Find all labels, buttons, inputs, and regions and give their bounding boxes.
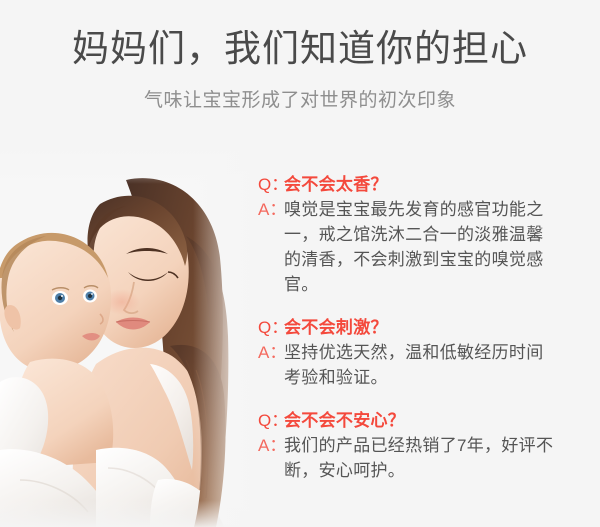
- question-text: 会不会太香？: [284, 172, 594, 197]
- answer-line: 坚持优选天然，温和低敏经历时间: [284, 340, 594, 365]
- qa-item: Q： 会不会太香？ A： 嗅觉是宝宝最先发育的感官功能之 一，戒之馆洗沐二合一的…: [258, 172, 594, 297]
- question-text: 会不会刺激？: [284, 315, 594, 340]
- header: 妈妈们，我们知道你的担心 气味让宝宝形成了对世界的初次印象: [0, 0, 600, 116]
- answer-line: 断，安心呵护。: [284, 458, 594, 483]
- qa-answer-row: A： 坚持优选天然，温和低敏经历时间 考验和验证。: [258, 340, 594, 390]
- page-title: 妈妈们，我们知道你的担心: [0, 26, 600, 72]
- qa-question-row: Q： 会不会不安心？: [258, 408, 594, 433]
- answer-text: 嗅觉是宝宝最先发育的感官功能之 一，戒之馆洗沐二合一的淡雅温馨 的清香，不会刺激…: [284, 197, 594, 297]
- qa-answer-row: A： 嗅觉是宝宝最先发育的感官功能之 一，戒之馆洗沐二合一的淡雅温馨 的清香，不…: [258, 197, 594, 297]
- qa-list: Q： 会不会太香？ A： 嗅觉是宝宝最先发育的感官功能之 一，戒之馆洗沐二合一的…: [258, 172, 594, 483]
- hero-photo: [0, 150, 268, 527]
- promo-page: 妈妈们，我们知道你的担心 气味让宝宝形成了对世界的初次印象: [0, 0, 600, 527]
- answer-marker: A：: [258, 197, 284, 222]
- mother-and-baby-illustration: [0, 150, 268, 527]
- answer-line: 考验和验证。: [284, 365, 594, 390]
- answer-line: 嗅觉是宝宝最先发育的感官功能之: [284, 197, 594, 222]
- answer-line: 我们的产品已经热销了7年，好评不: [284, 433, 594, 458]
- qa-answer-row: A： 我们的产品已经热销了7年，好评不 断，安心呵护。: [258, 433, 594, 483]
- question-marker: Q：: [258, 172, 284, 197]
- page-subtitle: 气味让宝宝形成了对世界的初次印象: [0, 86, 600, 116]
- question-marker: Q：: [258, 315, 284, 340]
- answer-text: 我们的产品已经热销了7年，好评不 断，安心呵护。: [284, 433, 594, 483]
- qa-question-row: Q： 会不会太香？: [258, 172, 594, 197]
- question-marker: Q：: [258, 408, 284, 433]
- answer-line: 官。: [284, 272, 594, 297]
- answer-line: 一，戒之馆洗沐二合一的淡雅温馨: [284, 222, 594, 247]
- question-text: 会不会不安心？: [284, 408, 594, 433]
- qa-question-row: Q： 会不会刺激？: [258, 315, 594, 340]
- answer-marker: A：: [258, 433, 284, 458]
- answer-text: 坚持优选天然，温和低敏经历时间 考验和验证。: [284, 340, 594, 390]
- answer-line: 的清香，不会刺激到宝宝的嗅觉感: [284, 247, 594, 272]
- answer-marker: A：: [258, 340, 284, 365]
- qa-item: Q： 会不会不安心？ A： 我们的产品已经热销了7年，好评不 断，安心呵护。: [258, 408, 594, 483]
- qa-item: Q： 会不会刺激？ A： 坚持优选天然，温和低敏经历时间 考验和验证。: [258, 315, 594, 390]
